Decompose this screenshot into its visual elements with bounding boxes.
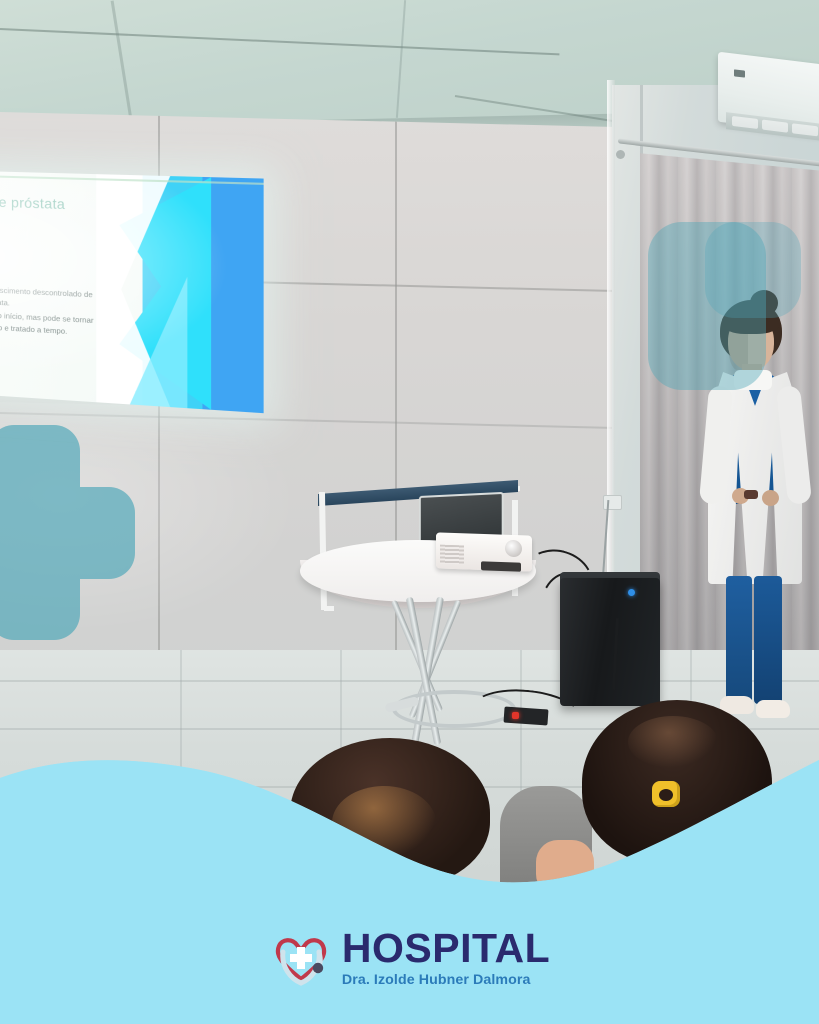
stethoscope-heart-with-cross-icon [269,929,333,987]
logo-title: HOSPITAL [342,928,550,969]
portable-speaker [560,578,660,706]
power-strip [503,706,548,725]
hand-right [762,490,779,506]
speaker-power-led [628,589,635,596]
audience-hair-highlight [628,716,718,768]
projector-ports [481,561,521,571]
ceiling-seam [0,28,559,55]
scrub-trouser-right [754,576,782,704]
hair-clip-icon [652,781,680,807]
power-strip-led [512,712,519,719]
logo-wordmark: HOSPITAL Dra. Izolde Hubner Dalmora [342,928,550,987]
vent-louvre [732,116,758,129]
medical-cross-overlay-left [0,425,135,640]
desk-foot [324,606,334,611]
slide-body-text: stata é o crescimento descontrolado de a… [0,283,180,345]
curtain-rod-finial [616,150,625,159]
air-conditioner-display [734,69,745,77]
ceiling-seam [111,1,133,120]
presentation-clicker [744,490,758,499]
vent-louvre [762,120,788,133]
projected-slide: ncer de próstata stata é o crescimento d… [0,170,264,413]
ceiling-seam [396,0,406,118]
hospital-logo: HOSPITAL Dra. Izolde Hubner Dalmora [0,918,819,998]
shoe-right [756,700,790,718]
rounded-blob-overlay-right [705,222,801,318]
wall-seam [395,122,397,742]
scrub-trouser-left [726,576,752,704]
vent-louvre [792,123,818,136]
logo-subtitle: Dra. Izolde Hubner Dalmora [342,973,531,987]
projector-lens [505,540,522,558]
projector-vent [440,545,464,565]
poster-canvas: ncer de próstata stata é o crescimento d… [0,0,819,1024]
cross-horizontal-bar [0,487,135,579]
